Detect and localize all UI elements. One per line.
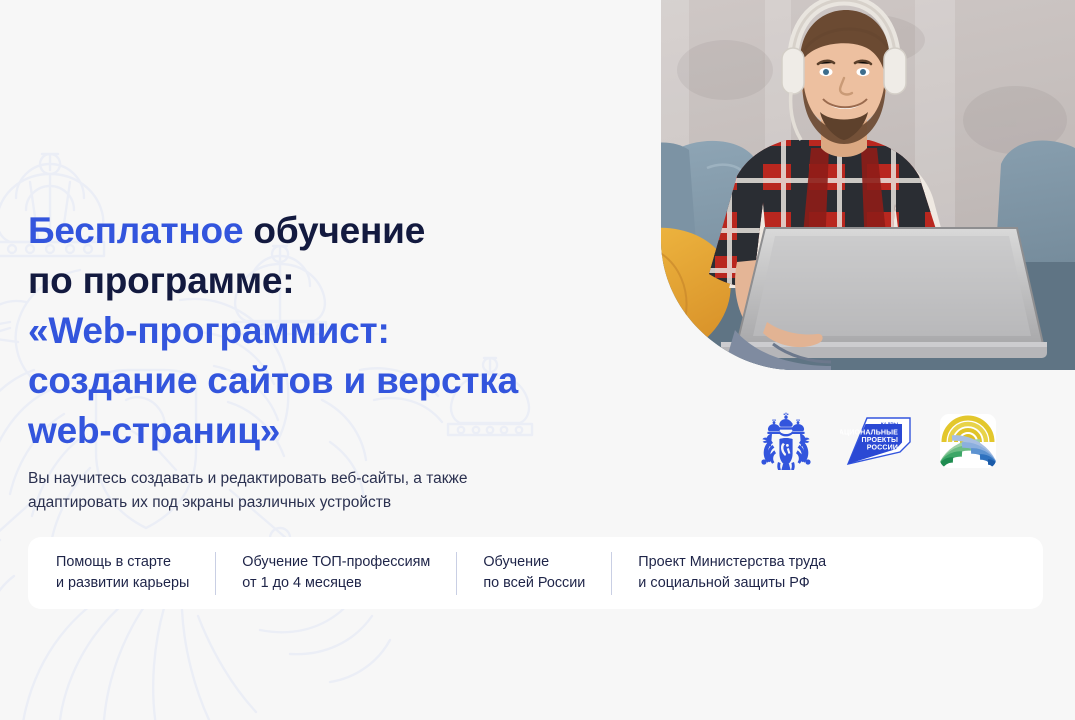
feature-top-professions-line-2: от 1 до 4 месяцев [242, 573, 430, 594]
logo-kicker: КАДРЫ [881, 422, 899, 427]
svg-text:РОССИИ: РОССИИ [867, 444, 898, 452]
national-projects-russia-logo: КАДРЫ НАЦИОНАЛЬНЫЕ ПРОЕКТЫ РОССИИ [840, 412, 912, 475]
demography-national-project-logo [938, 412, 998, 475]
feature-all-russia: Обучение по всей России [457, 552, 611, 594]
headline-line-3: «Web-программист: [28, 306, 518, 356]
feature-ministry-project: Проект Министерства труда и социальной з… [612, 552, 852, 594]
feature-card: Помощь в старте и развитии карьеры Обуче… [28, 537, 1043, 609]
page-title: Бесплатное обучение по программе: «Web-п… [28, 206, 518, 456]
feature-ministry-project-line-1: Проект Министерства труда [638, 552, 826, 573]
russian-federation-coat-of-arms-logo [758, 412, 814, 475]
feature-top-professions: Обучение ТОП-профессиям от 1 до 4 месяце… [216, 552, 456, 594]
page-subtitle: Вы научитесь создавать и редактировать в… [28, 467, 468, 515]
headline-line-1: Бесплатное обучение [28, 206, 518, 256]
headline-line-4: создание сайтов и верстка [28, 356, 518, 406]
feature-ministry-project-line-2: и социальной защиты РФ [638, 573, 826, 594]
subtitle-line-2: адаптировать их под экраны различных уст… [28, 491, 468, 515]
feature-career-help-line-1: Помощь в старте [56, 552, 189, 573]
feature-career-help: Помощь в старте и развитии карьеры [28, 552, 215, 594]
hero-photo [615, 0, 1075, 370]
feature-top-professions-line-1: Обучение ТОП-профессиям [242, 552, 430, 573]
headline-accent: Бесплатное [28, 210, 243, 251]
feature-all-russia-line-2: по всей России [483, 573, 585, 594]
headline-line-2: по программе: [28, 256, 518, 306]
feature-career-help-line-2: и развитии карьеры [56, 573, 189, 594]
headline-line-5: web-страниц» [28, 406, 518, 456]
promo-banner: Бесплатное обучение по программе: «Web-п… [0, 0, 1075, 720]
logo-strip: КАДРЫ НАЦИОНАЛЬНЫЕ ПРОЕКТЫ РОССИИ [758, 412, 998, 475]
feature-all-russia-line-1: Обучение [483, 552, 585, 573]
subtitle-line-1: Вы научитесь создавать и редактировать в… [28, 467, 468, 491]
headline-dark: обучение [243, 210, 425, 251]
